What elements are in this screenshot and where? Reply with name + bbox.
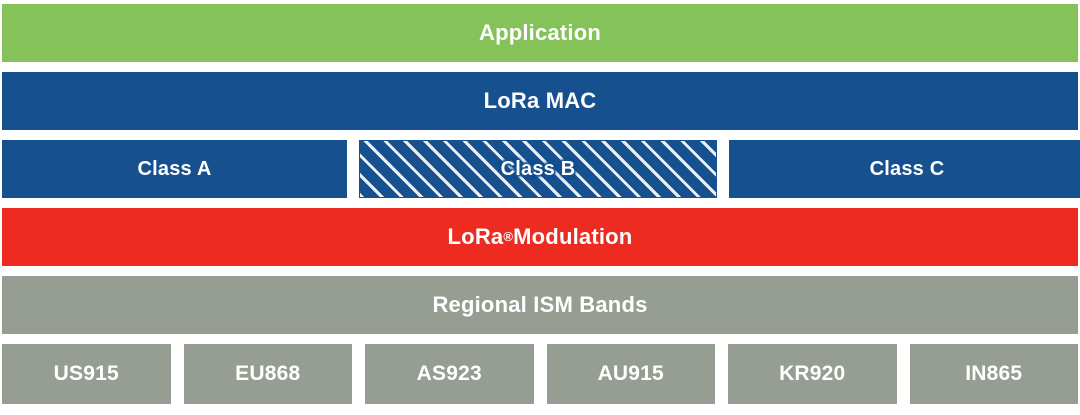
layer-class-a: Class A xyxy=(2,140,347,198)
lora-mac-layer-row: LoRa MAC xyxy=(2,72,1078,130)
layer-regional-ism-bands-label: Regional ISM Bands xyxy=(432,292,647,318)
frequency-band-as923: AS923 xyxy=(365,344,534,404)
layer-class-b: Class B xyxy=(359,140,717,198)
frequency-band-label: AS923 xyxy=(417,362,482,386)
layer-application: Application xyxy=(2,4,1078,62)
layer-lora-modulation: LoRa® Modulation xyxy=(2,208,1078,266)
regional-ism-bands-layer-row: Regional ISM Bands xyxy=(2,276,1078,334)
frequency-band-label: AU915 xyxy=(598,362,664,386)
lora-modulation-layer-row: LoRa® Modulation xyxy=(2,208,1078,266)
frequency-bands-row: US915 EU868 AS923 AU915 KR920 IN865 xyxy=(2,344,1078,404)
frequency-band-kr920: KR920 xyxy=(728,344,897,404)
frequency-band-au915: AU915 xyxy=(547,344,716,404)
frequency-band-eu868: EU868 xyxy=(184,344,353,404)
layer-class-c-label: Class C xyxy=(870,158,945,181)
frequency-band-label: IN865 xyxy=(965,362,1022,386)
layer-class-a-label: Class A xyxy=(137,158,211,181)
device-classes-row: Class A Class B Class C xyxy=(2,140,1078,198)
frequency-band-in865: IN865 xyxy=(910,344,1079,404)
layer-lora-mac: LoRa MAC xyxy=(2,72,1078,130)
frequency-band-label: EU868 xyxy=(235,362,300,386)
frequency-band-label: KR920 xyxy=(779,362,845,386)
application-layer-row: Application xyxy=(2,4,1078,62)
layer-lora-modulation-label-secondary: Modulation xyxy=(513,224,632,250)
layer-class-b-label: Class B xyxy=(501,158,576,181)
layer-class-c: Class C xyxy=(729,140,1080,198)
frequency-band-label: US915 xyxy=(54,362,119,386)
frequency-band-us915: US915 xyxy=(2,344,171,404)
layer-regional-ism-bands: Regional ISM Bands xyxy=(2,276,1078,334)
layer-lora-modulation-label-primary: LoRa xyxy=(448,224,504,250)
layer-application-label: Application xyxy=(479,20,601,46)
lorawan-protocol-stack-diagram: Application LoRa MAC Class A Class B Cla… xyxy=(0,0,1080,415)
layer-lora-mac-label: LoRa MAC xyxy=(484,88,597,114)
